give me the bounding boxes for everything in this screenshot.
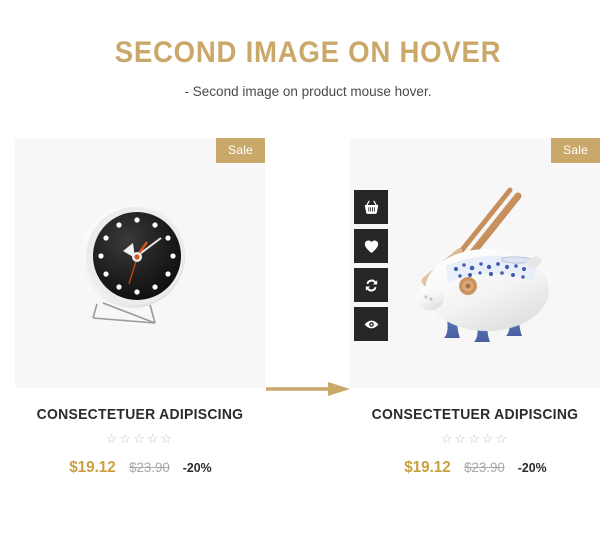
page-title: SECOND IMAGE ON HOVER xyxy=(25,38,592,68)
price-group: $19.12 $23.90 -20% xyxy=(350,459,600,477)
price-current: $19.12 xyxy=(69,459,115,477)
product-card-hovered[interactable]: Sale CONSECTETUER ADIPISCING ☆☆☆☆☆ $19.1… xyxy=(350,138,600,477)
add-to-cart-button[interactable] xyxy=(354,190,388,224)
discount-label: -20% xyxy=(182,460,211,475)
compare-icon xyxy=(363,277,380,294)
sale-badge: Sale xyxy=(551,138,600,163)
hover-actions xyxy=(354,190,388,341)
discount-label: -20% xyxy=(517,460,546,475)
product-media-hovered[interactable]: Sale xyxy=(350,138,600,388)
sale-badge: Sale xyxy=(216,138,265,163)
product-image-clock xyxy=(15,138,265,388)
product-card-default[interactable]: Sale CONSECTETUER ADIPISCING ☆☆☆☆☆ $19.1… xyxy=(15,138,265,477)
heart-icon xyxy=(363,238,380,255)
product-media-default[interactable]: Sale xyxy=(15,138,265,388)
header: SECOND IMAGE ON HOVER - Second image on … xyxy=(0,0,616,99)
add-to-wishlist-button[interactable] xyxy=(354,229,388,263)
product-info-hovered: CONSECTETUER ADIPISCING ☆☆☆☆☆ $19.12 $23… xyxy=(350,388,600,477)
hover-transition-arrow xyxy=(266,378,350,400)
eye-icon xyxy=(363,316,380,333)
page-root: SECOND IMAGE ON HOVER - Second image on … xyxy=(0,0,616,548)
product-info-default: CONSECTETUER ADIPISCING ☆☆☆☆☆ $19.12 $23… xyxy=(15,388,265,477)
rating-stars[interactable]: ☆☆☆☆☆ xyxy=(15,432,265,445)
price-current: $19.12 xyxy=(404,459,450,477)
compare-button[interactable] xyxy=(354,268,388,302)
price-group: $19.12 $23.90 -20% xyxy=(15,459,265,477)
rating-stars[interactable]: ☆☆☆☆☆ xyxy=(350,432,600,445)
price-original: $23.90 xyxy=(129,459,170,475)
basket-icon xyxy=(363,199,380,216)
price-original: $23.90 xyxy=(464,459,505,475)
product-title[interactable]: CONSECTETUER ADIPISCING xyxy=(359,406,592,423)
page-subtitle: - Second image on product mouse hover. xyxy=(0,84,616,99)
quick-view-button[interactable] xyxy=(354,307,388,341)
product-title[interactable]: CONSECTETUER ADIPISCING xyxy=(24,406,257,423)
